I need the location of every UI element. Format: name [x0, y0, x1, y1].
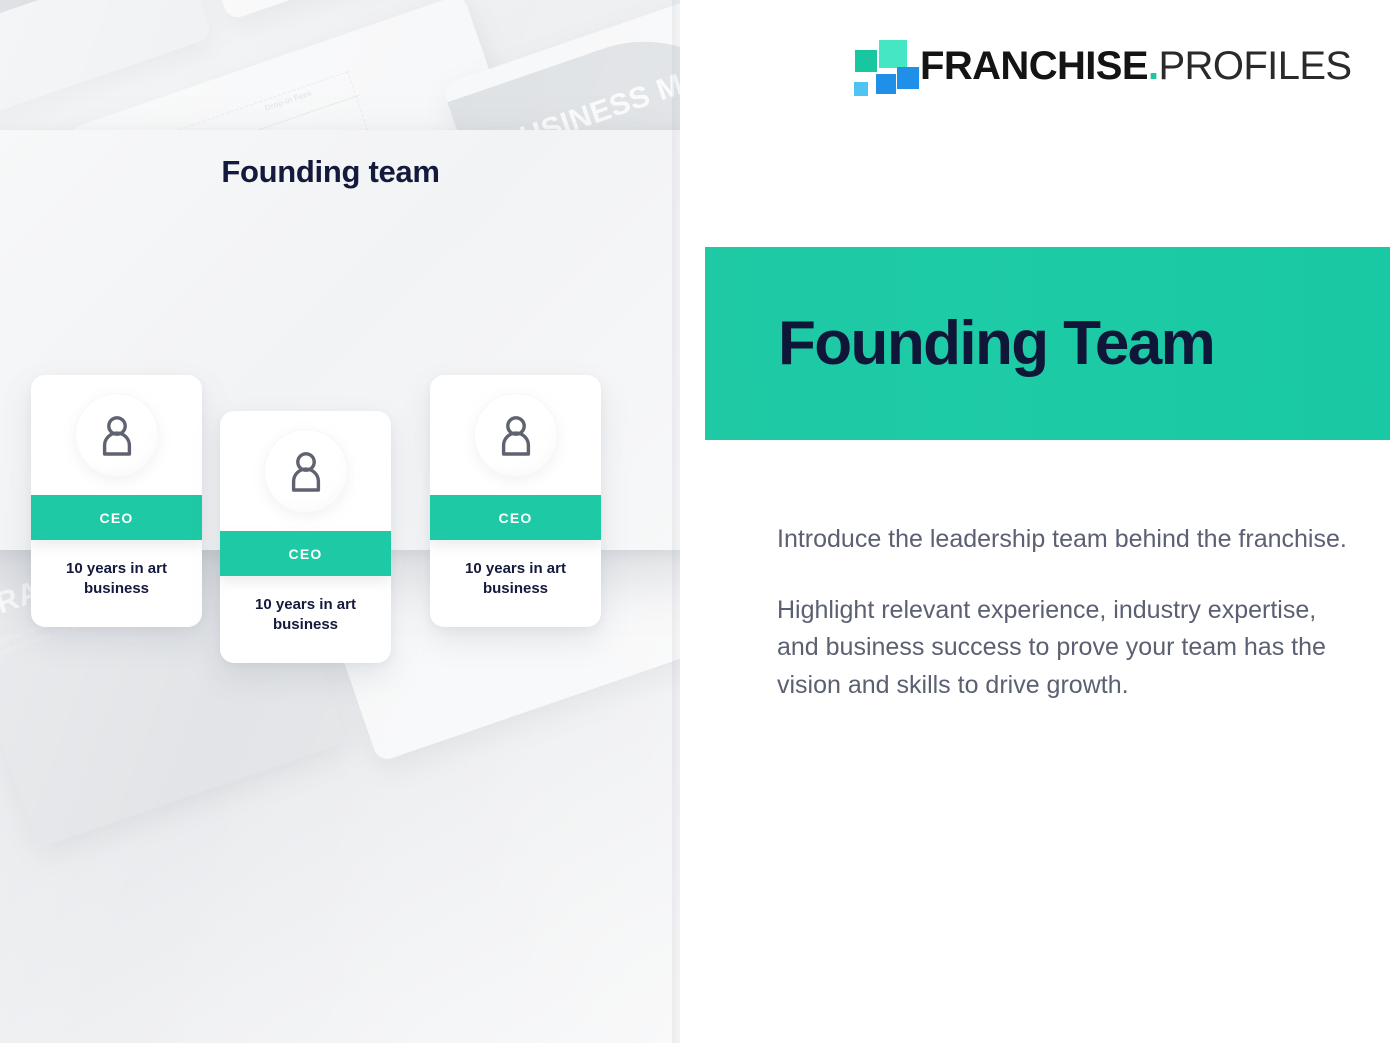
logo-square-lightblue	[854, 82, 868, 96]
person-icon	[286, 450, 326, 492]
person-icon	[97, 414, 137, 456]
avatar-wrapper	[31, 375, 202, 495]
logo-wordmark: FRANCHISE.PROFILES	[920, 46, 1352, 86]
logo-square-blue-right	[897, 67, 919, 89]
body-paragraph-1: Introduce the leadership team behind the…	[777, 521, 1347, 559]
preview-panel-title: Founding team	[0, 154, 683, 190]
logo-square-mint	[879, 40, 907, 68]
avatar-wrapper	[430, 375, 601, 495]
content-pane: FRANCHISE.PROFILES Founding Team Introdu…	[680, 0, 1390, 1043]
role-badge: CEO	[220, 531, 391, 576]
avatar-wrapper	[220, 411, 391, 531]
body-paragraph-2: Highlight relevant experience, industry …	[777, 592, 1347, 705]
team-member-card[interactable]: CEO 10 years in art business	[31, 375, 202, 627]
logo-square-teal	[855, 50, 877, 72]
team-member-card[interactable]: CEO 10 years in art business	[430, 375, 601, 627]
member-description: 10 years in art business	[430, 559, 601, 598]
logo-square-blue-center	[876, 74, 896, 94]
logo-dot: .	[1148, 44, 1159, 88]
avatar	[75, 393, 159, 477]
page-title: Founding Team	[778, 313, 1214, 375]
body-copy: Introduce the leadership team behind the…	[777, 521, 1347, 704]
avatar	[264, 429, 348, 513]
logo-squares-icon	[848, 38, 902, 94]
title-banner: Founding Team	[705, 247, 1390, 440]
backdrop-cover-bar	[0, 0, 155, 67]
member-description: 10 years in art business	[220, 595, 391, 634]
logo-word-profiles: PROFILES	[1158, 44, 1351, 88]
person-icon	[496, 414, 536, 456]
team-preview-panel: Founding team CEO 10 years in art busine…	[0, 130, 705, 550]
logo-word-franchise: FRANCHISE	[920, 44, 1148, 88]
avatar	[474, 393, 558, 477]
slide-root: MARKET ces in urban and g a substantial …	[0, 0, 1390, 1043]
team-member-card[interactable]: CEO 10 years in art business	[220, 411, 391, 663]
brand-logo[interactable]: FRANCHISE.PROFILES	[848, 38, 1352, 94]
role-badge: CEO	[430, 495, 601, 540]
member-description: 10 years in art business	[31, 559, 202, 598]
role-badge: CEO	[31, 495, 202, 540]
